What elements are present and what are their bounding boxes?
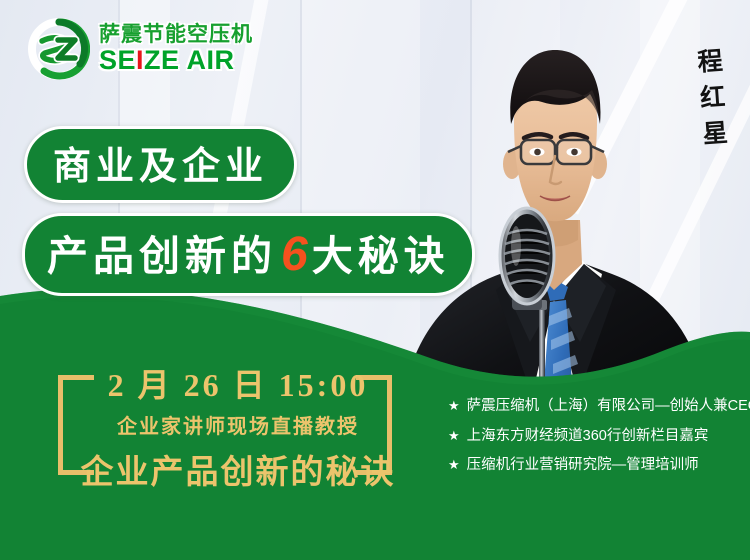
credential-text: 压缩机行业营销研究院—管理培训师 xyxy=(467,457,699,474)
light-streak xyxy=(745,0,750,147)
credential-text: 上海东方财经频道360行创新栏目嘉宾 xyxy=(467,428,709,445)
promotional-poster: 萨震节能空压机 SEIZE AIR 程红星 商业及企业 产品创新的6大秘诀 2 … xyxy=(0,0,750,560)
brand-logo: 萨震节能空压机 SEIZE AIR xyxy=(28,18,253,80)
event-topic: 企业产品创新的秘诀 xyxy=(56,445,420,493)
star-icon: ★ xyxy=(448,398,460,414)
credentials-list: ★ 萨震压缩机（上海）有限公司—创始人兼CEO ★ 上海东方财经频道360行创新… xyxy=(448,398,750,487)
star-icon: ★ xyxy=(448,457,460,473)
brand-name-en-accent: I xyxy=(136,45,144,75)
star-icon: ★ xyxy=(448,428,460,444)
headline-line-2: 产品创新的6大秘诀 xyxy=(22,213,475,296)
event-datetime: 2 月 26 日 15:00 xyxy=(56,368,420,403)
brand-name-cn: 萨震节能空压机 xyxy=(99,24,253,45)
list-item: ★ 上海东方财经频道360行创新栏目嘉宾 xyxy=(448,428,750,445)
headline-line-2-pre: 产品创新的 xyxy=(47,233,277,279)
event-subtitle: 企业家讲师现场直播教授 xyxy=(56,410,420,439)
list-item: ★ 压缩机行业营销研究院—管理培训师 xyxy=(448,457,750,474)
headline-line-2-post: 大秘诀 xyxy=(312,233,450,279)
brand-name-en: SEIZE AIR xyxy=(99,47,253,74)
event-details: 2 月 26 日 15:00 企业家讲师现场直播教授 企业产品创新的秘诀 xyxy=(56,368,420,493)
headline-line-1: 商业及企业 xyxy=(24,126,297,203)
headline-number: 6 xyxy=(277,228,312,281)
credential-text: 萨震压缩机（上海）有限公司—创始人兼CEO xyxy=(467,398,750,415)
seize-air-circle-logo-icon xyxy=(28,18,90,80)
headline: 商业及企业 产品创新的6大秘诀 xyxy=(24,126,750,296)
list-item: ★ 萨震压缩机（上海）有限公司—创始人兼CEO xyxy=(448,398,750,415)
